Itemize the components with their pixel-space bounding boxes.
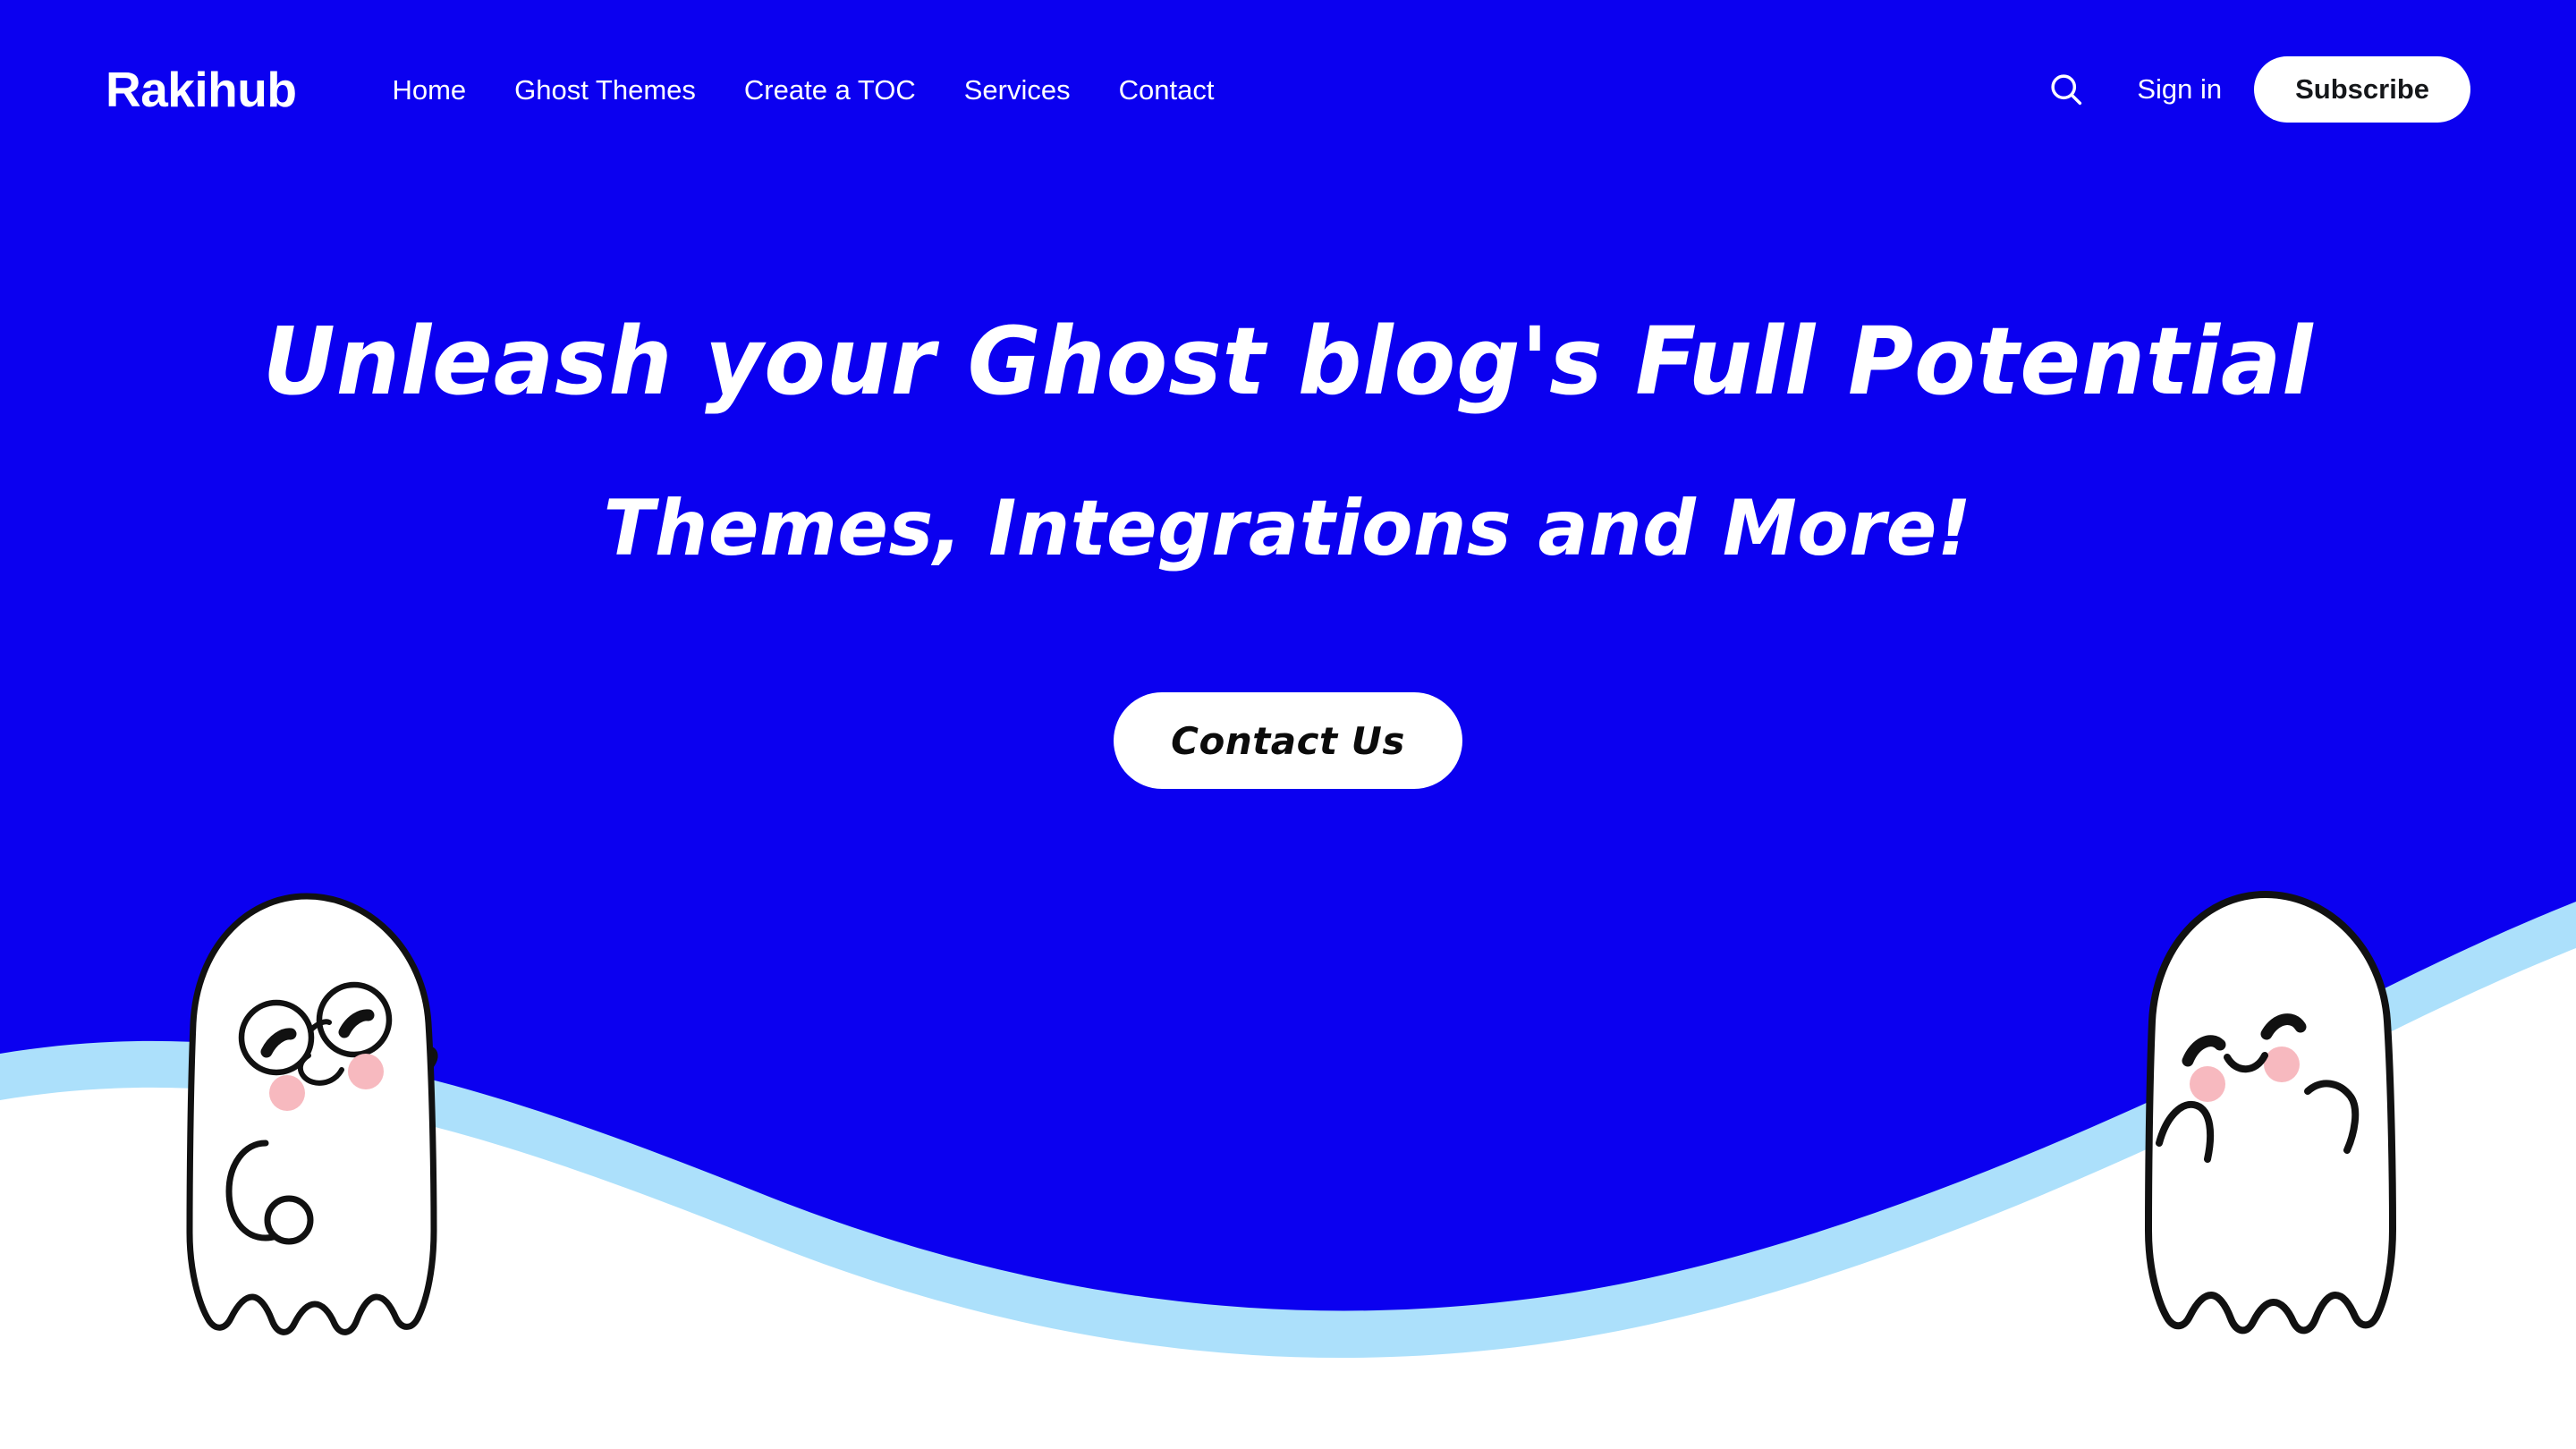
sign-in-link[interactable]: Sign in bbox=[2114, 73, 2245, 106]
ghost-left-smile bbox=[301, 1055, 342, 1083]
nav-item-ghost-themes[interactable]: Ghost Themes bbox=[490, 76, 720, 104]
search-icon bbox=[2046, 70, 2086, 109]
ghost-left-cheek-left bbox=[269, 1075, 305, 1111]
ghost-left-belly-dot bbox=[267, 1199, 310, 1241]
ghost-right-eye-right bbox=[2267, 1020, 2301, 1034]
hero-subtitle: Themes, Integrations and More! bbox=[604, 490, 1972, 567]
ghost-left-cheek-right bbox=[348, 1054, 384, 1089]
hero-title: Unleash your Ghost blog's Full Potential bbox=[263, 315, 2314, 408]
hero-section: Unleash your Ghost blog's Full Potential… bbox=[0, 179, 2576, 789]
main-navigation: Home Ghost Themes Create a TOC Services … bbox=[368, 76, 1238, 104]
ghost-left-hand bbox=[367, 1048, 435, 1122]
ghost-right-cheek-left bbox=[2190, 1066, 2225, 1102]
nav-item-services[interactable]: Services bbox=[940, 76, 1095, 104]
ghost-right-cheek-right bbox=[2264, 1046, 2300, 1082]
ghost-right-arm-right bbox=[2308, 1083, 2355, 1150]
ghost-right-smile bbox=[2227, 1055, 2265, 1069]
nav-item-home[interactable]: Home bbox=[368, 76, 490, 104]
site-header: Rakihub Home Ghost Themes Create a TOC S… bbox=[0, 0, 2576, 179]
ghost-left-glasses-left-lens bbox=[241, 1003, 311, 1072]
hero-cta-wrapper: Contact Us bbox=[1114, 692, 1462, 789]
wave-light-shape bbox=[0, 0, 2576, 1358]
ghost-right-body bbox=[2148, 894, 2393, 1330]
nav-item-create-a-toc[interactable]: Create a TOC bbox=[720, 76, 940, 104]
contact-us-button[interactable]: Contact Us bbox=[1114, 692, 1462, 789]
ghost-smiling-illustration bbox=[2118, 882, 2413, 1347]
ghost-left-eye-right bbox=[344, 1015, 369, 1032]
header-actions: Sign in Subscribe bbox=[2038, 56, 2470, 123]
ghost-right-eye-left bbox=[2188, 1041, 2220, 1061]
ghost-left-body bbox=[190, 896, 434, 1332]
nav-item-contact[interactable]: Contact bbox=[1095, 76, 1239, 104]
search-button[interactable] bbox=[2038, 62, 2094, 117]
ghost-with-glasses-illustration bbox=[159, 884, 454, 1349]
page-root: Rakihub Home Ghost Themes Create a TOC S… bbox=[0, 0, 2576, 1449]
site-logo[interactable]: Rakihub bbox=[106, 65, 296, 114]
hero-blue-shape bbox=[0, 0, 2576, 1310]
ghost-right-arm-left bbox=[2159, 1105, 2210, 1159]
ghost-left-belly-swirl bbox=[229, 1143, 297, 1238]
subscribe-button[interactable]: Subscribe bbox=[2254, 56, 2470, 123]
ghost-left-glasses-bridge bbox=[310, 1021, 329, 1030]
ghost-left-glasses-right-lens bbox=[319, 985, 389, 1055]
ghost-left-eye-left bbox=[267, 1034, 291, 1052]
